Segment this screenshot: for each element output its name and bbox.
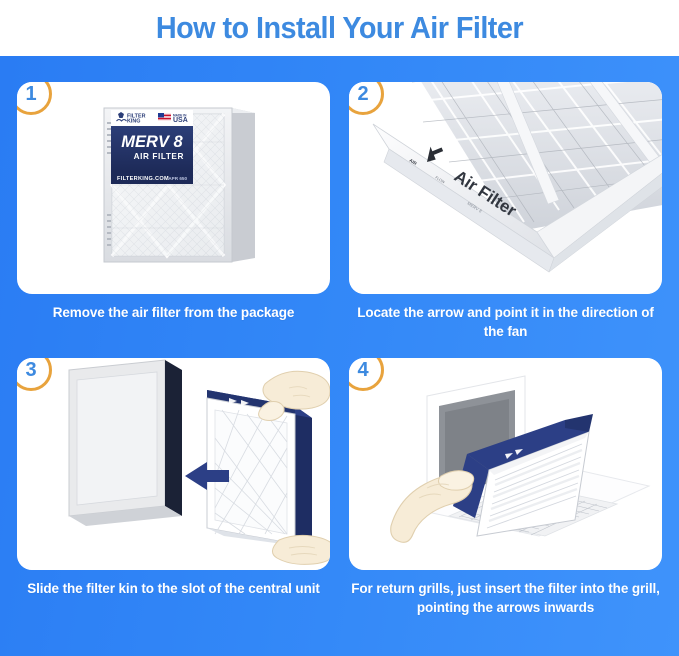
step-4: 4 <box>349 358 662 617</box>
steps-grid: 1 <box>0 56 679 656</box>
step-1: 1 <box>17 82 330 322</box>
header: How to Install Your Air Filter <box>0 0 679 56</box>
blue-background: 1 <box>0 56 679 656</box>
hand-lower <box>272 535 330 564</box>
air-filter-product-photo: FILTER KING MADE IN USA <box>17 82 330 294</box>
step-2-number: 2 <box>357 83 368 106</box>
step-1-card: 1 <box>17 82 330 294</box>
step-1-caption: Remove the air filter from the package <box>17 303 330 322</box>
insert-filter-into-return-grill-illustration <box>349 358 662 570</box>
step-2-caption: Locate the arrow and point it in the dir… <box>349 303 662 341</box>
page-title: How to Install Your Air Filter <box>156 10 523 46</box>
step-3: 3 <box>17 358 330 598</box>
step-3-number: 3 <box>25 359 36 382</box>
step-3-card: 3 <box>17 358 330 570</box>
step-2-card: 2 <box>349 82 662 294</box>
step-4-card: 4 <box>349 358 662 570</box>
filter-frame-corner-with-arrow: AIR FLOW Air Filter MERV 8 <box>349 82 662 294</box>
infographic-page: How to Install Your Air Filter 1 <box>0 0 679 656</box>
slide-filter-into-slot-illustration <box>17 358 330 570</box>
step-4-caption: For return grills, just insert the filte… <box>349 579 662 617</box>
step-1-number: 1 <box>25 83 36 106</box>
step-2: 2 <box>349 82 662 341</box>
step-3-caption: Slide the filter kin to the slot of the … <box>17 579 330 598</box>
step-4-number: 4 <box>357 359 368 382</box>
